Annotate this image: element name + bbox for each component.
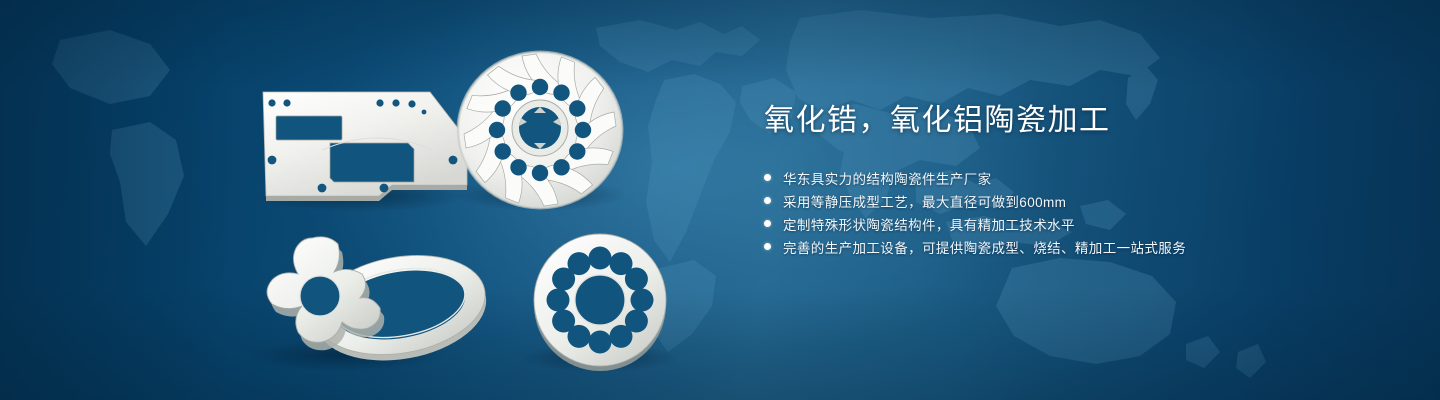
hero-banner: 氧化锆，氧化铝陶瓷加工 华东具实力的结构陶瓷件生产厂家 采用等静压成型工艺，最大… bbox=[0, 0, 1440, 400]
ceramic-machined-plate bbox=[263, 92, 467, 201]
page-title: 氧化锆，氧化铝陶瓷加工 bbox=[764, 106, 1384, 136]
ceramic-perforated-disc bbox=[534, 234, 666, 371]
bullet-dot-icon bbox=[764, 243, 771, 250]
feature-list: 华东具实力的结构陶瓷件生产厂家 采用等静压成型工艺，最大直径可做到600mm 定… bbox=[764, 166, 1384, 258]
list-item-label: 定制特殊形状陶瓷结构件，具有精加工技术水平 bbox=[783, 214, 1075, 234]
bullet-dot-icon bbox=[764, 174, 771, 181]
bullet-dot-icon bbox=[764, 220, 771, 227]
list-item: 华东具实力的结构陶瓷件生产厂家 bbox=[764, 166, 1384, 189]
bullet-dot-icon bbox=[764, 197, 771, 204]
list-item: 采用等静压成型工艺，最大直径可做到600mm bbox=[764, 189, 1384, 212]
banner-copy: 氧化锆，氧化铝陶瓷加工 华东具实力的结构陶瓷件生产厂家 采用等静压成型工艺，最大… bbox=[764, 106, 1384, 258]
ceramic-products-image bbox=[0, 0, 760, 400]
list-item-label: 采用等静压成型工艺，最大直径可做到600mm bbox=[783, 191, 1066, 211]
list-item-label: 完善的生产加工设备，可提供陶瓷成型、烧结、精加工一站式服务 bbox=[783, 237, 1186, 257]
list-item: 完善的生产加工设备，可提供陶瓷成型、烧结、精加工一站式服务 bbox=[764, 235, 1384, 258]
list-item: 定制特殊形状陶瓷结构件，具有精加工技术水平 bbox=[764, 212, 1384, 235]
ceramic-vaned-impeller bbox=[458, 51, 622, 209]
list-item-label: 华东具实力的结构陶瓷件生产厂家 bbox=[783, 168, 992, 188]
ceramic-cross-vane-part bbox=[267, 237, 384, 350]
